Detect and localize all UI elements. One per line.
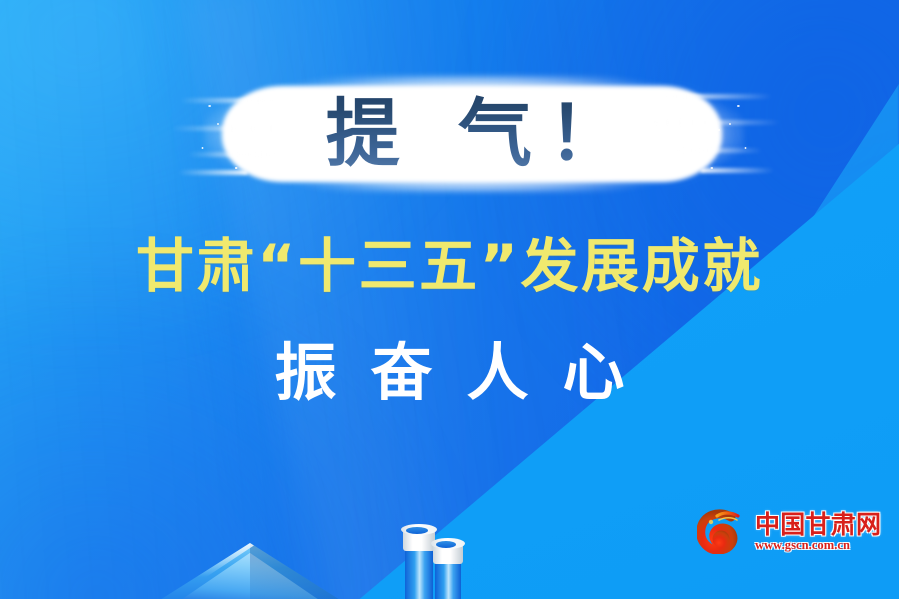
pyramid-shadow-face <box>250 543 348 599</box>
subtitle-text: 甘肃“十三五”发展成就 <box>0 236 899 297</box>
logo-site-url: www.gscn.com.cn <box>755 539 881 552</box>
poster-canvas: 提 气！ 甘肃“十三五”发展成就 振 奋 人 心 <box>0 0 899 599</box>
pipe-tall-shaft <box>405 543 433 599</box>
pipe-short <box>435 543 461 599</box>
pipe-tall-collar <box>403 529 435 551</box>
logo-text-block: 中国甘肃网 www.gscn.com.cn <box>755 510 881 552</box>
logo-site-name: 中国甘肃网 <box>755 512 881 537</box>
pipe-pair-graphic <box>405 525 467 599</box>
pipe-short-bore <box>436 541 456 548</box>
pipe-tall-bore <box>406 527 428 534</box>
pipe-short-collar <box>433 543 463 564</box>
headline-text: 提 气！ <box>196 68 752 200</box>
pipe-tall <box>405 529 433 599</box>
site-logo[interactable]: 中国甘肃网 www.gscn.com.cn <box>697 505 869 557</box>
tagline-text: 振 奋 人 心 <box>0 340 899 405</box>
gscn-swirl-icon <box>697 508 749 554</box>
pyramid-graphic <box>152 543 348 599</box>
